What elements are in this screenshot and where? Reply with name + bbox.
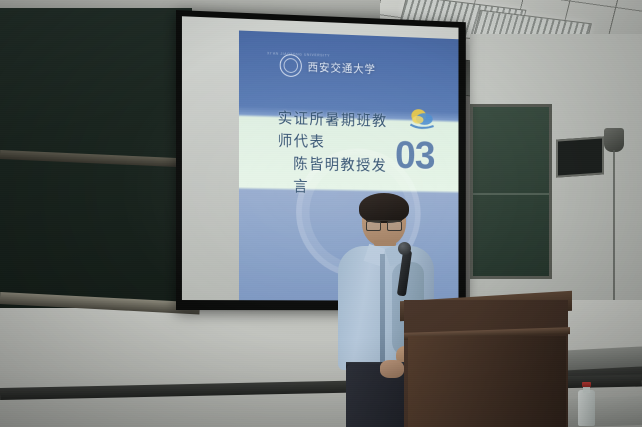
water-bottle [578, 382, 595, 426]
lecture-hall-photo: 西安交通大学 XI'AN JIAOTONG UNIVERSITY 实证所暑期班教… [0, 0, 642, 427]
slide-title-line-1: 实证所暑期班教师代表 [278, 106, 395, 155]
university-logo: 西安交通大学 [280, 54, 376, 80]
bottle-body [578, 390, 595, 426]
presenter-hand-on-notes [380, 360, 404, 378]
blackboard-right [470, 104, 552, 279]
speaker-cable [613, 150, 615, 300]
shirt-button-placket [380, 254, 385, 364]
microphone-icon [398, 242, 411, 255]
university-seal-icon [280, 54, 302, 77]
university-logo-text: 西安交通大学 [308, 58, 376, 76]
podium-front-panel [408, 336, 566, 427]
presenter-hair [359, 193, 409, 223]
slide-title-block: 实证所暑期班教师代表 陈皆明教授发言 [278, 106, 395, 200]
wall-monitor-screen [556, 136, 604, 177]
slide-content-row: 实证所暑期班教师代表 陈皆明教授发言 03 [239, 118, 458, 189]
eyeglasses-icon [366, 220, 402, 229]
blackboard-divider [473, 193, 549, 195]
slide-section-number: 03 [395, 133, 434, 177]
bottle-cap [582, 382, 591, 387]
wall-speaker-icon [604, 128, 624, 152]
